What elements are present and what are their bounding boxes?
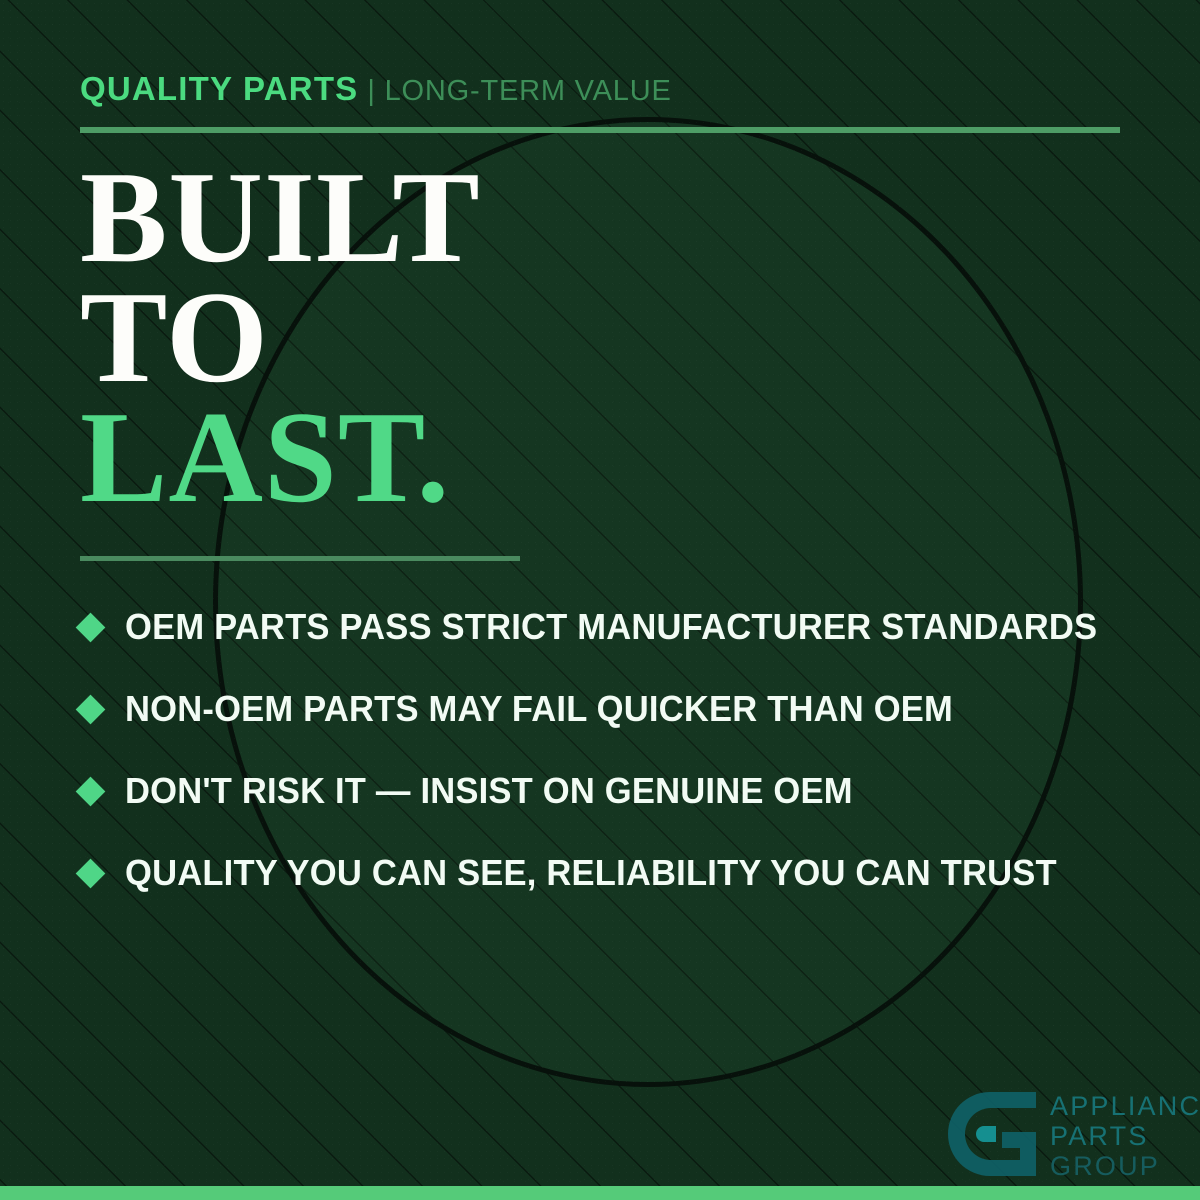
list-item: NON-OEM PARTS MAY FAIL QUICKER THAN OEM — [80, 668, 1140, 750]
benefit-list: OEM PARTS PASS STRICT MANUFACTURER STAND… — [80, 586, 1140, 914]
headline-line-3: LAST. — [80, 398, 481, 518]
diamond-bullet-icon — [76, 776, 106, 806]
logo-wordmark: APPLIANCE PARTS GROUP — [1050, 1088, 1200, 1181]
list-item-label: DON'T RISK IT — INSIST ON GENUINE OEM — [125, 770, 853, 812]
logo-line-group: GROUP — [1050, 1151, 1200, 1181]
list-item-label: NON-OEM PARTS MAY FAIL QUICKER THAN OEM — [125, 688, 953, 730]
list-item: QUALITY YOU CAN SEE, RELIABILITY YOU CAN… — [80, 832, 1140, 914]
headline-line-1: BUILT — [80, 158, 481, 278]
list-item-label: OEM PARTS PASS STRICT MANUFACTURER STAND… — [125, 606, 1097, 648]
diamond-bullet-icon — [76, 694, 106, 724]
list-item: OEM PARTS PASS STRICT MANUFACTURER STAND… — [80, 586, 1140, 668]
eyebrow-strong-label: QUALITY PARTS — [80, 70, 358, 107]
eyebrow-header: QUALITY PARTS| LONG-TERM VALUE — [80, 72, 672, 106]
diamond-bullet-icon — [76, 612, 106, 642]
headline-line-2: TO — [80, 278, 481, 398]
list-item-label: QUALITY YOU CAN SEE, RELIABILITY YOU CAN… — [125, 852, 1057, 894]
eyebrow-light-label: | LONG-TERM VALUE — [367, 75, 671, 107]
brand-logo-watermark: APPLIANCE PARTS GROUP — [944, 1088, 1200, 1181]
logo-line-parts: PARTS — [1050, 1121, 1200, 1151]
poster-content: QUALITY PARTS| LONG-TERM VALUE BUILT TO … — [0, 0, 1200, 1200]
diamond-bullet-icon — [76, 858, 106, 888]
appliance-parts-group-g-icon — [944, 1088, 1040, 1180]
poster-canvas: QUALITY PARTS| LONG-TERM VALUE BUILT TO … — [0, 0, 1200, 1200]
headline: BUILT TO LAST. — [80, 158, 481, 518]
headline-divider-rule — [80, 556, 520, 561]
bottom-accent-bar — [0, 1186, 1200, 1200]
list-item: DON'T RISK IT — INSIST ON GENUINE OEM — [80, 750, 1140, 832]
logo-line-appliance: APPLIANCE — [1050, 1091, 1200, 1121]
header-divider-rule — [80, 127, 1120, 133]
